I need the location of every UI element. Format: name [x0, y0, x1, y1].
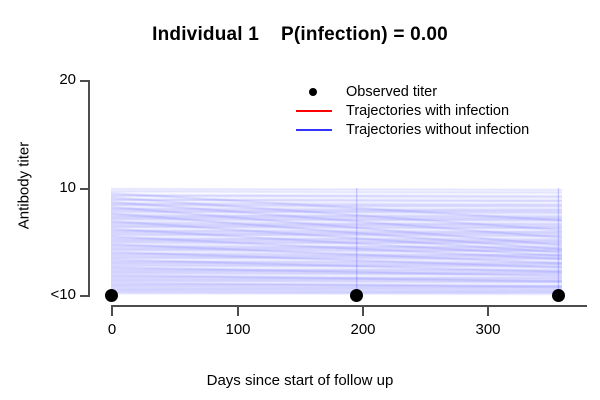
y-tick-10 [80, 188, 89, 190]
legend-label-without-infection: Trajectories without infection [346, 122, 529, 138]
y-tick-lt10 [80, 295, 89, 297]
legend-label-observed-titer: Observed titer [346, 84, 437, 100]
y-tick-label-10: 10 [16, 179, 76, 196]
trajectory-line [111, 294, 562, 295]
observed-titer-point [105, 289, 118, 302]
observed-titer-point [552, 289, 565, 302]
x-tick-label-100: 100 [208, 321, 268, 338]
y-tick-label-lt10: <10 [16, 286, 76, 303]
legend-key-observed [292, 82, 346, 101]
y-tick-label-20: 20 [16, 71, 76, 88]
chart-title: Individual 1 P(infection) = 0.00 [0, 24, 600, 46]
x-tick-0 [111, 307, 113, 316]
x-tick-label-200: 200 [333, 321, 393, 338]
legend-label-with-infection: Trajectories with infection [346, 103, 509, 119]
observed-point-icon [309, 88, 317, 96]
trajectory-lines [111, 189, 562, 295]
legend-item-without-infection: Trajectories without infection [292, 120, 592, 139]
legend-item-with-infection: Trajectories with infection [292, 101, 592, 120]
x-tick-200 [362, 307, 364, 316]
blue-line-icon [296, 129, 332, 131]
y-tick-20 [80, 80, 89, 82]
legend-key-with-infection [292, 101, 346, 120]
legend-item-observed-titer: Observed titer [292, 82, 592, 101]
legend-key-without-infection [292, 120, 346, 139]
trajectory-line [111, 201, 562, 202]
legend: Observed titer Trajectories with infecti… [292, 82, 592, 139]
red-line-icon [296, 110, 332, 112]
x-tick-label-0: 0 [82, 321, 142, 338]
x-tick-100 [237, 307, 239, 316]
x-tick-label-300: 300 [458, 321, 518, 338]
x-axis-label: Days since start of follow up [0, 372, 600, 389]
x-tick-300 [487, 307, 489, 316]
chart-canvas: Individual 1 P(infection) = 0.00 Antibod… [0, 0, 600, 400]
